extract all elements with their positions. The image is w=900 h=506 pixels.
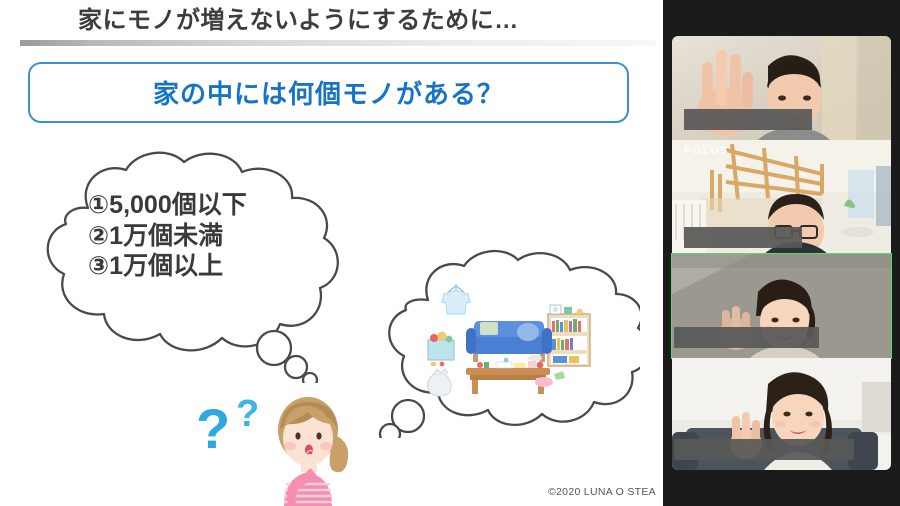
option-2: ②1万個未満 — [88, 221, 318, 252]
page-title: 家にモノが増えないようにするために… — [78, 4, 638, 38]
presentation-slide: 家にモノが増えないようにするために… 家の中には何個モノがある？ ①5,000個… — [0, 0, 663, 506]
hanging-shirt-icon — [442, 284, 470, 314]
sofa-icon — [466, 321, 552, 362]
video-tile-participant-1[interactable] — [672, 36, 891, 140]
participant-name-redacted-1 — [684, 109, 812, 130]
options-list: ①5,000個以下 ②1万個未満 ③1万個以上 — [88, 190, 318, 282]
participant-name-redacted-3 — [674, 327, 819, 348]
svg-text:POLUS HOME: POLUS HOME — [686, 143, 715, 147]
video-participants-panel: POLUS POLUS HOME — [663, 0, 900, 506]
room-illustration — [418, 278, 600, 403]
coffee-table-icon — [466, 358, 550, 394]
trash-bag-icon — [428, 369, 452, 396]
participant-name-redacted-2 — [684, 227, 802, 248]
video-tile-participant-4[interactable] — [672, 358, 891, 470]
video-tile-participant-3-active[interactable] — [672, 254, 891, 358]
svg-text:?: ? — [236, 393, 259, 435]
question-callout-text: 家の中には何個モノがある？ — [153, 74, 504, 111]
option-3: ③1万個以上 — [88, 251, 318, 282]
video-tile-participant-2[interactable]: POLUS POLUS HOME — [672, 140, 891, 254]
thinking-girl-illustration — [262, 388, 357, 506]
question-callout-box: 家の中には何個モノがある？ — [28, 62, 629, 123]
participant-name-redacted-4 — [674, 439, 854, 460]
polus-watermark-logo: POLUS POLUS HOME — [684, 143, 729, 157]
copyright-text: ©2020 LUNA O STEA — [548, 486, 656, 498]
screen-share-view: 家にモノが増えないようにするために… 家の中には何個モノがある？ ①5,000個… — [0, 0, 900, 506]
svg-text:?: ? — [196, 397, 230, 460]
bookshelf-icon — [548, 305, 590, 366]
toy-box-icon — [428, 332, 454, 367]
title-divider — [20, 40, 656, 46]
option-1: ①5,000個以下 — [88, 190, 318, 221]
